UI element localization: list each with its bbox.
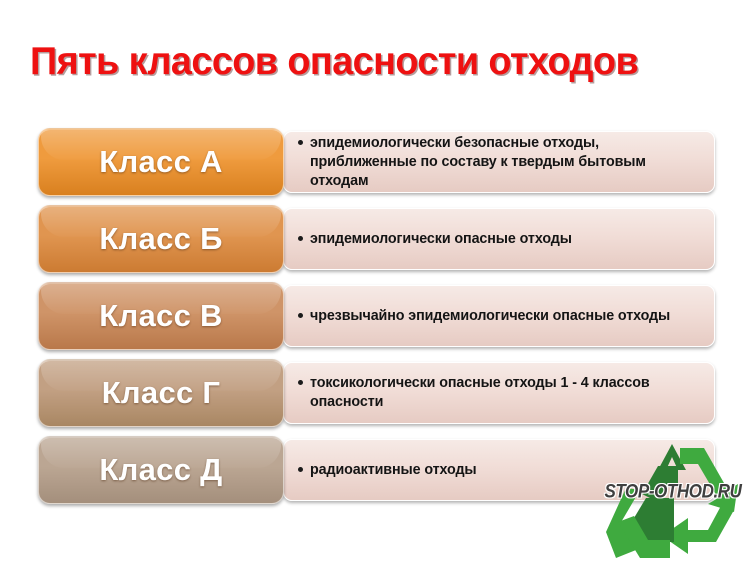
list-item: Класс В чрезвычайно эпидемиологически оп… — [0, 282, 750, 350]
class-description-text: эпидемиологически безопасные отходы, при… — [310, 134, 700, 191]
class-description-panel-b: эпидемиологически опасные отходы — [283, 208, 715, 270]
class-badge-label: Класс Д — [99, 452, 222, 488]
class-badge-label: Класс Б — [99, 221, 222, 257]
class-description-text: радиоактивные отходы — [310, 461, 477, 480]
class-badge-g[interactable]: Класс Г — [38, 359, 284, 427]
class-description-panel-g: токсикологически опасные отходы 1 - 4 кл… — [283, 362, 715, 424]
page-title: Пять классов опасности отходов — [30, 40, 638, 84]
watermark: STOP-OTHOD.RU — [596, 432, 750, 561]
bullet-icon — [298, 140, 303, 145]
class-description-panel-v: чрезвычайно эпидемиологически опасные от… — [283, 285, 715, 347]
list-item: Класс Б эпидемиологически опасные отходы — [0, 205, 750, 273]
class-description-text: эпидемиологически опасные отходы — [310, 230, 572, 249]
bullet-icon — [298, 380, 303, 385]
slide-root: Пять классов опасности отходов Класс А э… — [0, 0, 750, 561]
class-description-text: токсикологически опасные отходы 1 - 4 кл… — [310, 374, 700, 412]
bullet-icon — [298, 467, 303, 472]
bullet-icon — [298, 313, 303, 318]
list-item: Класс А эпидемиологически безопасные отх… — [0, 128, 750, 196]
list-item: Класс Г токсикологически опасные отходы … — [0, 359, 750, 427]
class-badge-label: Класс А — [99, 144, 222, 180]
class-badge-b[interactable]: Класс Б — [38, 205, 284, 273]
class-badge-a[interactable]: Класс А — [38, 128, 284, 196]
class-description-panel-a: эпидемиологически безопасные отходы, при… — [283, 131, 715, 193]
bullet-icon — [298, 236, 303, 241]
class-badge-label: Класс В — [99, 298, 222, 334]
class-badge-v[interactable]: Класс В — [38, 282, 284, 350]
watermark-text: STOP-OTHOD.RU — [596, 481, 750, 503]
class-badge-label: Класс Г — [102, 375, 221, 411]
class-badge-d[interactable]: Класс Д — [38, 436, 284, 504]
class-description-text: чрезвычайно эпидемиологически опасные от… — [310, 307, 670, 326]
